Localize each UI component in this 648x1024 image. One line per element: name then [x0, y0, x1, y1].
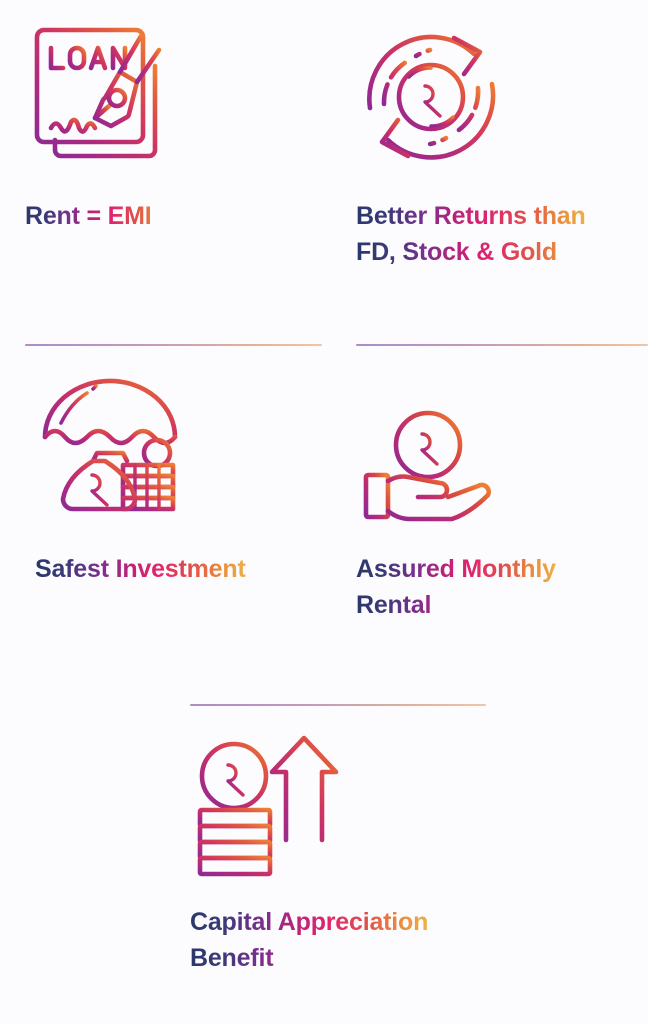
- benefit-card-capital-appreciation: Capital Appreciation Benefit: [190, 728, 428, 976]
- benefit-card-safest-investment: Safest Investment: [35, 375, 246, 587]
- benefit-card-better-returns: Better Returns than FD, Stock & Gold: [356, 22, 586, 270]
- divider-row1-left: [25, 344, 322, 346]
- benefit-label: Capital Appreciation Benefit: [190, 904, 428, 976]
- umbrella-money-protection-icon: [35, 375, 185, 525]
- benefit-card-rent-equals-emi: Rent = EMI: [25, 22, 175, 234]
- coins-growth-arrow-icon: [190, 728, 340, 878]
- loan-document-signing-icon: [25, 22, 175, 172]
- benefit-label: Assured Monthly Rental: [356, 551, 556, 623]
- hand-holding-coin-icon: [356, 375, 506, 525]
- divider-row2-center: [190, 704, 486, 706]
- benefits-infographic: Rent = EMI: [0, 0, 648, 1024]
- benefit-label: Safest Investment: [35, 551, 246, 587]
- benefit-card-assured-monthly-rental: Assured Monthly Rental: [356, 375, 556, 623]
- benefit-label: Better Returns than FD, Stock & Gold: [356, 198, 586, 270]
- benefit-label: Rent = EMI: [25, 198, 175, 234]
- divider-row1-right: [356, 344, 648, 346]
- money-cycle-returns-icon: [356, 22, 506, 172]
